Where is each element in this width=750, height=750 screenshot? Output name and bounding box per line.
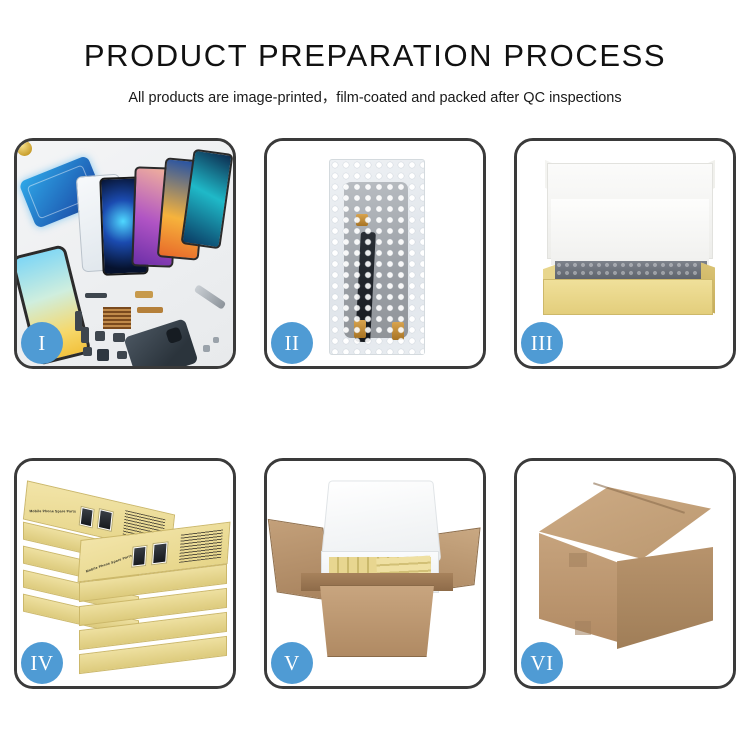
page-subtitle: All products are image-printed，film-coat…	[0, 86, 750, 107]
carton-tape-upper	[569, 553, 587, 567]
part-strip-icon	[85, 293, 107, 298]
part-connector-icon	[135, 291, 153, 298]
box-phone-image-front-2	[151, 541, 169, 565]
box-label-front: Mobile Phone Spare Parts	[85, 554, 132, 574]
box-phone-image-front-1	[131, 545, 147, 568]
styrofoam-lid-icon	[321, 481, 442, 562]
process-panel-1: I	[14, 138, 236, 369]
box-label-rear: Mobile Phone Spare Parts	[29, 509, 76, 513]
carton-right-face	[617, 547, 713, 649]
panel-4-badge: IV	[21, 642, 63, 684]
part-small-c-icon	[113, 333, 125, 342]
bubble-texture-overlay	[330, 160, 424, 354]
panel-2-badge: II	[271, 322, 313, 364]
part-screw-2-icon	[213, 337, 219, 343]
page-title: PRODUCT PREPARATION PROCESS	[0, 38, 750, 74]
part-small-d-icon	[83, 347, 92, 356]
yellow-box-front	[543, 279, 713, 315]
part-small-e-icon	[97, 349, 109, 361]
part-small-g-icon	[75, 311, 82, 331]
box-phone-image-rear-1	[79, 506, 95, 529]
process-panel-4: Mobile Phone Spare Parts Mobile Phone Sp…	[14, 458, 236, 689]
carton-front-face	[315, 585, 439, 657]
process-panel-6: VI	[514, 458, 736, 689]
process-panel-3: III	[514, 138, 736, 369]
part-flex-icon	[137, 307, 163, 313]
vibrator-motor-icon	[17, 141, 32, 156]
panel-5-badge: V	[271, 642, 313, 684]
process-panel-grid: I II III	[14, 138, 736, 698]
phone-back-housing-icon	[123, 318, 198, 366]
foam-sheet-icon	[551, 199, 709, 265]
carton-tape-lower	[575, 621, 591, 635]
part-screw-icon	[203, 345, 210, 352]
panel-6-badge: VI	[521, 642, 563, 684]
part-small-b-icon	[95, 331, 105, 341]
panel-1-badge: I	[21, 322, 63, 364]
process-panel-5: V	[264, 458, 486, 689]
part-small-a-icon	[81, 327, 89, 343]
process-panel-2: II	[264, 138, 486, 369]
panel-3-badge: III	[521, 322, 563, 364]
bubble-wrap-bag-icon	[329, 159, 425, 355]
screwdriver-bits-icon	[103, 307, 131, 329]
box-stack-icon: Mobile Phone Spare Parts Mobile Phone Sp…	[21, 479, 233, 671]
box-spec-lines-front	[179, 530, 223, 563]
part-small-f-icon	[117, 351, 127, 359]
tweezers-icon	[194, 284, 227, 310]
box-phone-image-rear-2	[97, 508, 114, 532]
page-header: PRODUCT PREPARATION PROCESS All products…	[0, 0, 750, 107]
